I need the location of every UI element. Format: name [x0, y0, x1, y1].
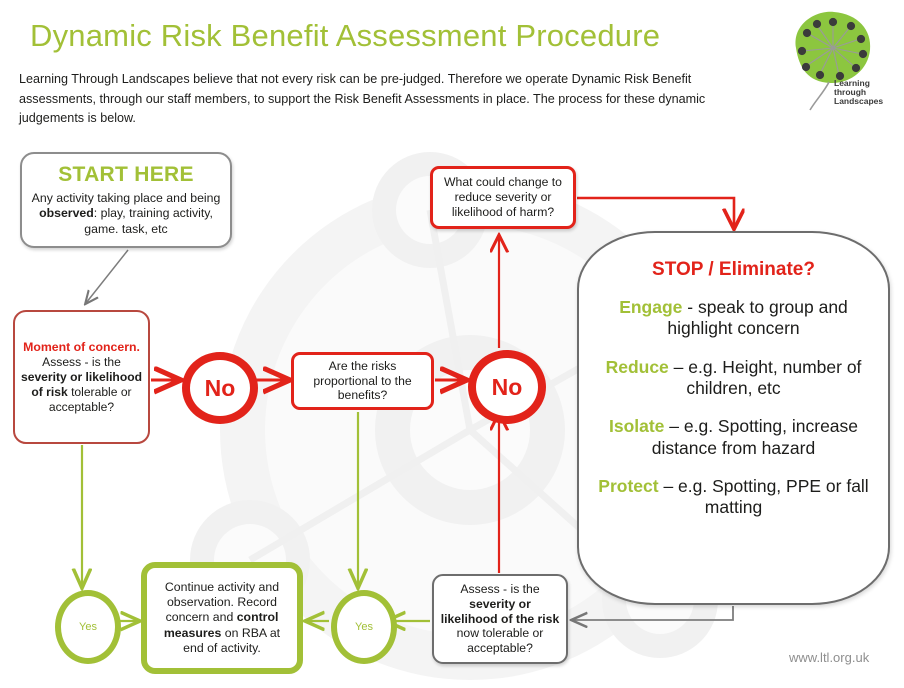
what-could-change-box: What could change to reduce severity or …	[430, 166, 576, 229]
wire-stop-to-assess	[573, 606, 733, 620]
stop-item-engage: Engage - speak to group and highlight co…	[589, 297, 878, 340]
wire-change-to-stop	[577, 198, 734, 228]
intro-paragraph: Learning Through Landscapes believe that…	[19, 70, 731, 129]
diagram-canvas: Dynamic Risk Benefit Assessment Procedur…	[0, 0, 904, 688]
moment-of-concern-title: Moment of concern.	[21, 340, 142, 355]
stop-item-reduce: Reduce – e.g. Height, number of children…	[589, 357, 878, 400]
logo-line-3: Landscapes	[834, 96, 883, 106]
stop-eliminate-heading: STOP / Eliminate?	[589, 259, 878, 281]
moment-of-concern-box: Moment of concern. Assess - is the sever…	[13, 310, 150, 444]
assess-now-tolerable-text: Assess - is the severity or likelihood o…	[434, 582, 566, 656]
decision-no-2: No	[468, 350, 546, 424]
footer-url[interactable]: www.ltl.org.uk	[789, 650, 869, 665]
what-could-change-text: What could change to reduce severity or …	[433, 175, 573, 220]
decision-no-1: No	[182, 352, 258, 424]
stop-item-isolate: Isolate – e.g. Spotting, increase distan…	[589, 416, 878, 459]
decision-yes-1: Yes	[55, 590, 121, 664]
start-here-box: START HERE Any activity taking place and…	[20, 152, 232, 248]
risks-proportional-box: Are the risks proportional to the benefi…	[291, 352, 434, 410]
assess-now-tolerable-box: Assess - is the severity or likelihood o…	[432, 574, 568, 664]
decision-yes-2: Yes	[331, 590, 397, 664]
start-here-title: START HERE	[28, 163, 224, 187]
risks-proportional-text: Are the risks proportional to the benefi…	[294, 359, 431, 403]
ltl-logo: Learning through Landscapes	[772, 6, 890, 118]
page-title: Dynamic Risk Benefit Assessment Procedur…	[30, 18, 750, 54]
moment-of-concern-body: Assess - is the severity or likelihood o…	[21, 355, 142, 414]
wire-start-to-moment	[86, 250, 128, 303]
stop-item-protect: Protect – e.g. Spotting, PPE or fall mat…	[589, 476, 878, 519]
start-here-body: Any activity taking place and being obse…	[28, 191, 224, 238]
continue-activity-text: Continue activity and observation. Recor…	[147, 580, 297, 657]
continue-activity-box: Continue activity and observation. Recor…	[141, 562, 303, 674]
stop-eliminate-panel: STOP / Eliminate? Engage - speak to grou…	[577, 231, 890, 605]
